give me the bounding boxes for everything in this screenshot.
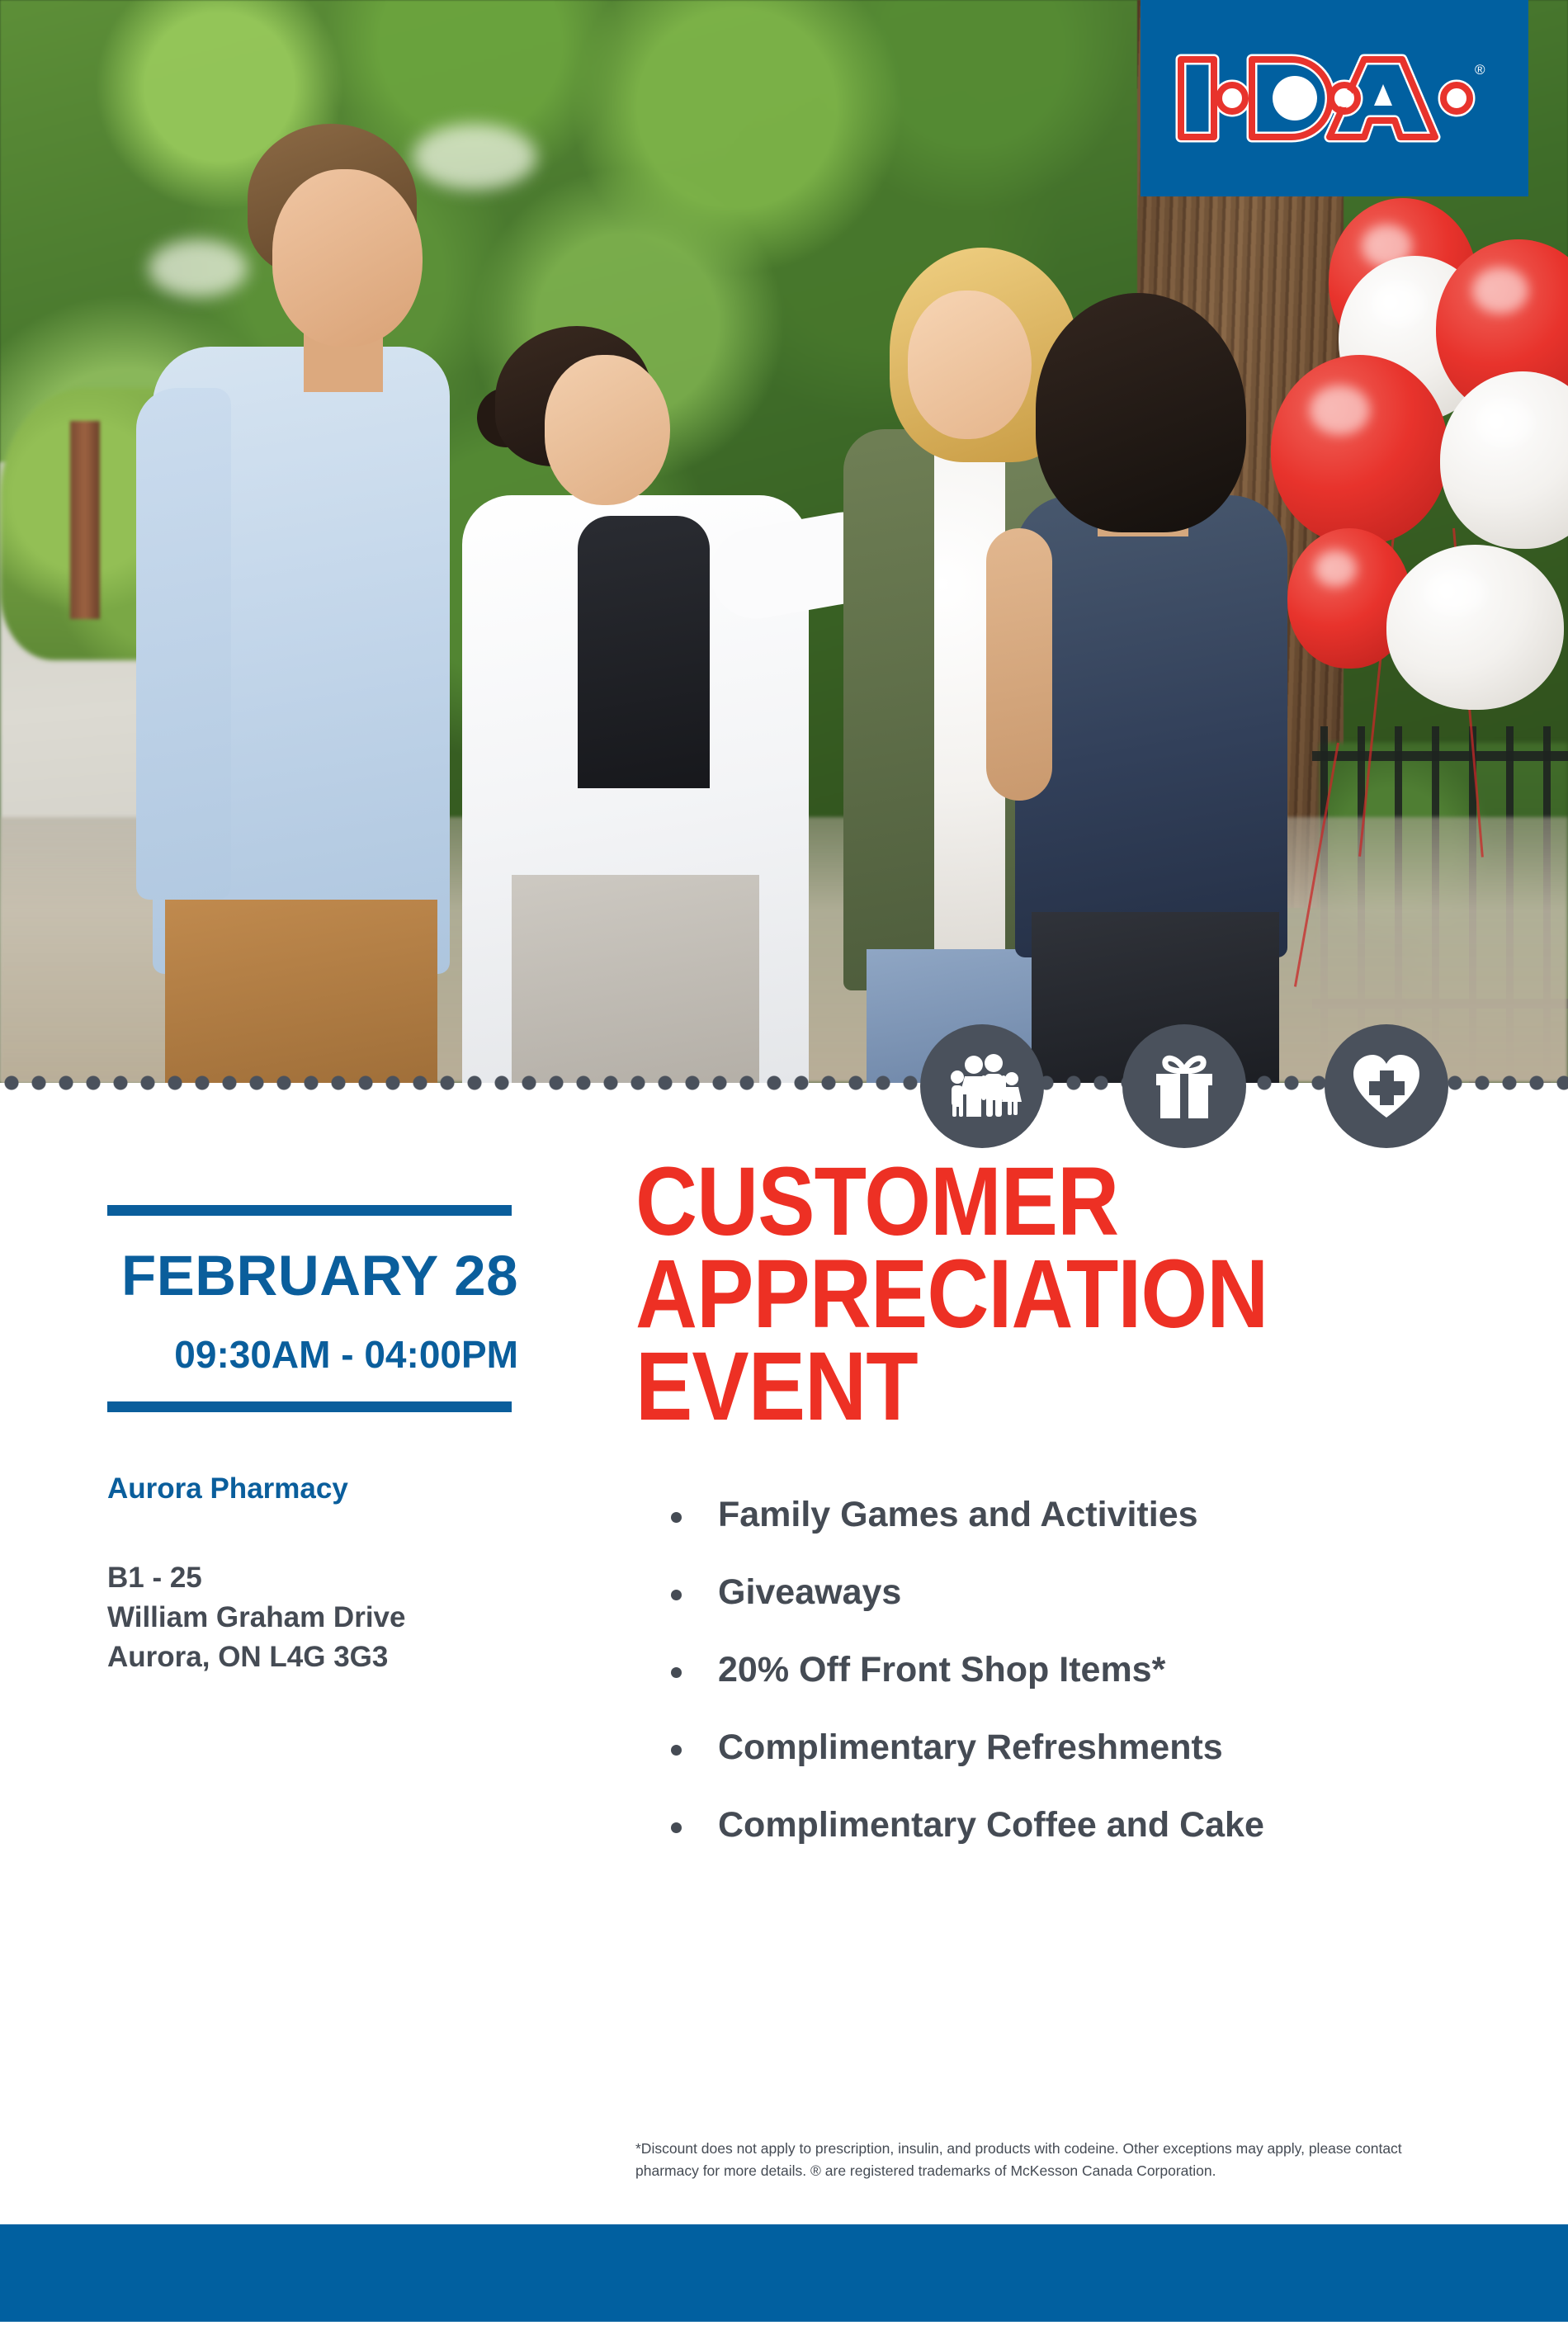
store-address: B1 - 25 William Graham Drive Aurora, ON … bbox=[107, 1558, 520, 1678]
svg-text:®: ® bbox=[1475, 62, 1485, 78]
event-poster: ® bbox=[0, 0, 1568, 2330]
list-item: Complimentary Coffee and Cake bbox=[635, 1808, 1510, 1843]
list-item: Family Games and Activities bbox=[635, 1497, 1510, 1533]
headline-column: CUSTOMER APPRECIATION EVENT Family Games… bbox=[635, 1156, 1510, 1885]
list-item: Complimentary Refreshments bbox=[635, 1730, 1510, 1765]
footer-bar bbox=[0, 2224, 1568, 2322]
store-name: Aurora Pharmacy bbox=[107, 1473, 520, 1505]
list-item: 20% Off Front Shop Items* bbox=[635, 1652, 1510, 1688]
family-icon bbox=[942, 1052, 1022, 1120]
badge-family bbox=[920, 1024, 1044, 1148]
address-line: B1 - 25 bbox=[107, 1558, 520, 1598]
ida-logo: ® bbox=[1141, 0, 1528, 196]
event-date: FEBRUARY 28 bbox=[107, 1247, 520, 1304]
disclaimer-text: *Discount does not apply to prescription… bbox=[635, 2138, 1428, 2182]
gift-icon bbox=[1152, 1052, 1216, 1120]
list-item: Giveaways bbox=[635, 1575, 1510, 1610]
rule-bottom bbox=[107, 1401, 512, 1412]
event-details-column: FEBRUARY 28 09:30AM - 04:00PM Aurora Pha… bbox=[107, 1205, 520, 1677]
badge-health bbox=[1325, 1024, 1448, 1148]
headline-line-2: APPRECIATION bbox=[635, 1248, 1405, 1340]
offers-list: Family Games and Activities Giveaways 20… bbox=[635, 1497, 1510, 1843]
badge-gift bbox=[1122, 1024, 1246, 1148]
event-time: 09:30AM - 04:00PM bbox=[107, 1335, 520, 1373]
address-line: Aurora, ON L4G 3G3 bbox=[107, 1638, 520, 1677]
page-title: CUSTOMER APPRECIATION EVENT bbox=[635, 1156, 1405, 1433]
address-line: William Graham Drive bbox=[107, 1598, 520, 1638]
heart-plus-icon bbox=[1351, 1052, 1422, 1120]
rule-top bbox=[107, 1205, 512, 1216]
headline-line-3: EVENT bbox=[635, 1340, 1405, 1433]
